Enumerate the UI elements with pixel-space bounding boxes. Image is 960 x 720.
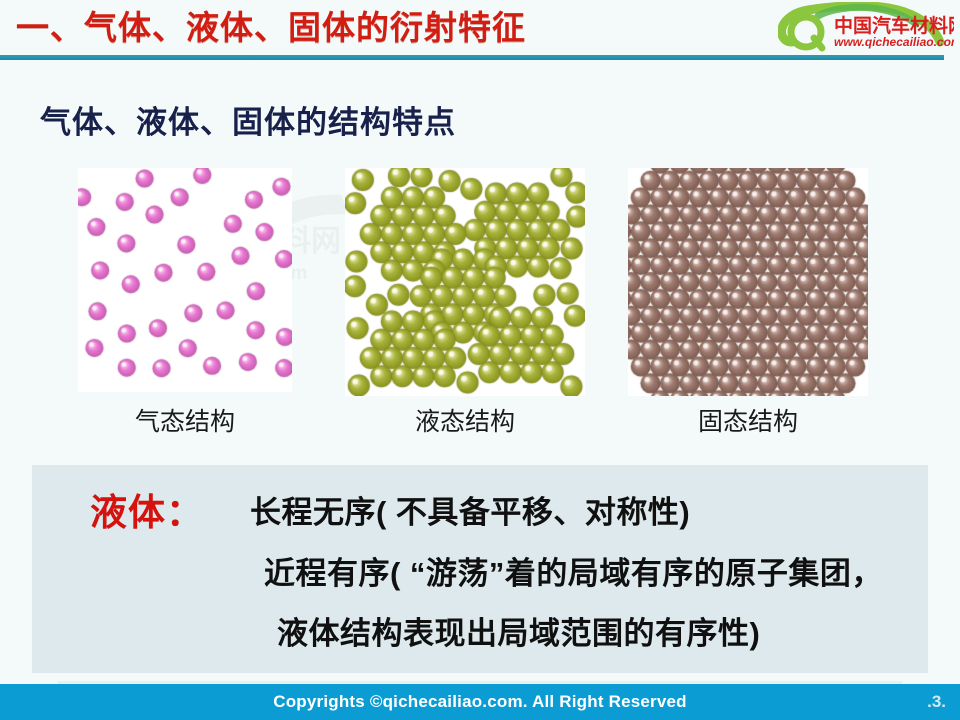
definition-line-1: 长程无序( 不具备平移、对称性)	[250, 487, 690, 532]
section-subtitle: 气体、液体、固体的结构特点	[40, 97, 456, 142]
solid-spheres-canvas	[628, 168, 868, 396]
slide-header: 一、气体、液体、固体的衍射特征 中国汽车材料网 www.qichecailiao…	[0, 0, 960, 58]
definition-lead-label: 液体：	[90, 482, 204, 536]
caption-gas: 气态结构	[78, 402, 292, 438]
title-divider	[0, 55, 944, 60]
page-title: 一、气体、液体、固体的衍射特征	[16, 6, 526, 50]
caption-solid: 固态结构	[628, 402, 868, 438]
figure-gas-structure	[78, 168, 292, 392]
copyright-text: Copyrights ©qichecailiao.com. All Right …	[0, 684, 960, 720]
definition-box: 液体： 长程无序( 不具备平移、对称性) 近程有序( “游荡”着的局域有序的原子…	[32, 465, 928, 673]
slide: 一、气体、液体、固体的衍射特征 中国汽车材料网 www.qichecailiao…	[0, 0, 960, 720]
qichecailiao-logo[interactable]: 中国汽车材料网 www.qichecailiao.com	[778, 2, 954, 54]
figure-solid-structure	[628, 168, 868, 396]
definition-line-3: 液体结构表现出局域范围的有序性)	[277, 608, 760, 653]
caption-liquid: 液态结构	[345, 402, 585, 438]
figure-liquid-structure	[345, 168, 585, 396]
slide-footer: Copyrights ©qichecailiao.com. All Right …	[0, 684, 960, 720]
liquid-spheres-canvas	[345, 168, 585, 396]
logo-graphic: 中国汽车材料网 www.qichecailiao.com	[778, 2, 954, 54]
svg-text:中国汽车材料网: 中国汽车材料网	[834, 14, 954, 37]
svg-text:www.qichecailiao.com: www.qichecailiao.com	[834, 35, 954, 49]
page-number: .3.	[927, 684, 946, 720]
definition-line-2: 近程有序( “游荡”着的局域有序的原子集团，	[264, 548, 883, 593]
gas-spheres-canvas	[78, 168, 292, 392]
